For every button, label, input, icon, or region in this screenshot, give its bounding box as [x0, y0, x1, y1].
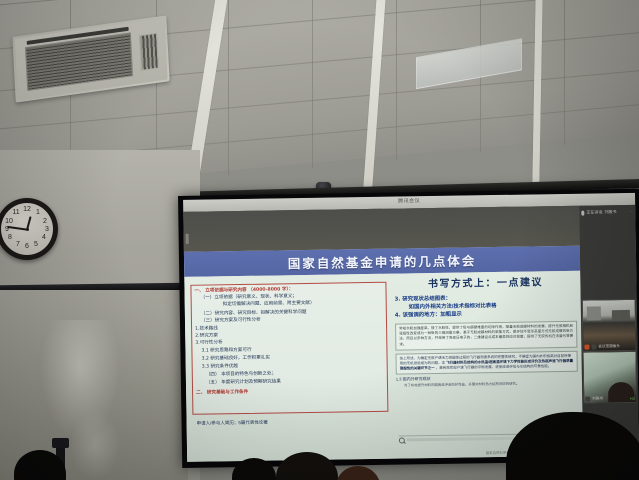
participant-video-tile[interactable]: 会议室摄像头: [582, 299, 637, 352]
clock-numeral: 6: [22, 243, 32, 251]
clock-numeral: 2: [40, 218, 50, 226]
slide-left-column: 一、 立项依据与研究内容 （4000-8000 字）： （一）立项依据（研究意义…: [190, 282, 388, 444]
screen-share-top-band: [183, 206, 580, 252]
sample-paragraph-1: 常规水胶加强度高，接了水胶性，提供了极与超硬难度的切除作用，随着无胶成膜材料的发…: [395, 321, 577, 351]
participant-video-tile[interactable]: 刘殿书 HD: [582, 351, 637, 404]
sample-paragraph-2: 综上所述，为确定无胶产速无力测超体过程的飞行器测速系统的完整性研究，不确定为国内…: [395, 351, 577, 375]
camera-icon: [591, 344, 596, 349]
outline-line: 3.1 研究思路和方案可行: [201, 348, 251, 354]
outline-line: （五） 年度研究计划及预期研究结果: [206, 379, 281, 385]
clock-numeral: 5: [31, 241, 41, 249]
search-icon: [399, 437, 405, 443]
section-heading: 1.3 国内外研究现状 为了有效提升材料的超高速冲击防护性能，开展对材料热力结构…: [396, 374, 578, 388]
more-options-button[interactable]: ···: [629, 209, 633, 214]
advice-item-number: 4.: [395, 313, 401, 319]
outline-footnote: 申请人/参与人简历；5篇代表性论著: [197, 420, 268, 427]
advice-item: 4. 该强调的地方：加粗显示: [395, 309, 577, 320]
outline-line: 二、 研究基础与工作条件: [196, 390, 248, 396]
speaking-indicator: 正在讲话: 刘殿书: [581, 208, 633, 217]
mic-icon: [585, 397, 590, 402]
microphone-icon: [581, 210, 584, 215]
advice-item-text: 研究现状总结图表：: [402, 296, 451, 303]
hd-badge: HD: [630, 397, 635, 401]
advice-heading: 书写方式上：一点建议: [394, 273, 576, 291]
participant-name: 刘殿书: [592, 396, 603, 401]
clock-numeral: 8: [5, 234, 15, 242]
outline-line: 2.研究方案: [195, 333, 218, 338]
outline-line: （四） 本项目的特色与创新之处；: [206, 371, 276, 377]
outline-line: 3.可行性分析: [195, 340, 222, 345]
participant-label: 会议室摄像头: [584, 344, 634, 350]
mic-muted-icon: [584, 345, 589, 350]
paragraph-suffix: ，是有效实现产速飞行器的平衡发展，进而改进评估与水结构的可靠性能。: [436, 364, 552, 370]
participant-label: 刘殿书: [585, 396, 635, 402]
clock-numeral: 3: [42, 226, 52, 234]
outline-line: 拟定切需解决问题、应用前景、附主要文献）: [223, 301, 315, 307]
outline-line: 3.3 研究条件优越: [202, 364, 238, 370]
conference-room-scene: 12 1 2 3 4 5 6 7 8 9 10 11 腾讯会议: [0, 0, 639, 480]
audience-head: [336, 466, 380, 480]
outline-box: 一、 立项依据与研究内容 （4000-8000 字）： （一）立项依据（研究意义…: [190, 282, 388, 415]
outline-line: 3.2 研究基础良好，工作积累扎实: [202, 356, 271, 362]
clock-numeral: 7: [13, 241, 23, 249]
shared-screen-area: 国家自然基金申请的几点体会 一、 立项依据与研究内容 （4000-8000 字）…: [183, 206, 583, 462]
clock-numeral: 10: [4, 218, 14, 226]
clock-numeral: 12: [22, 206, 32, 214]
outline-line: 1.技术路线: [195, 326, 218, 331]
meeting-app-title: 腾讯会议: [398, 197, 420, 204]
clock-face: 12 1 2 3 4 5 6 7 8 9 10 11: [1, 203, 53, 255]
section-label: 1.3 国内外研究现状: [396, 376, 431, 382]
slide-title-text: 国家自然基金申请的几点体会: [288, 250, 477, 272]
participant-name: 会议室摄像头: [598, 344, 620, 349]
clock-numeral: 11: [11, 209, 21, 217]
advice-item-number: 3.: [395, 297, 401, 303]
clock-numeral: 1: [33, 209, 43, 217]
outline-line: （三）研究方案及可行性分析: [201, 318, 261, 324]
speaking-label: 正在讲话: 刘殿书: [586, 209, 616, 215]
advice-item-text: 该强调的地方：加粗显示: [403, 312, 462, 319]
